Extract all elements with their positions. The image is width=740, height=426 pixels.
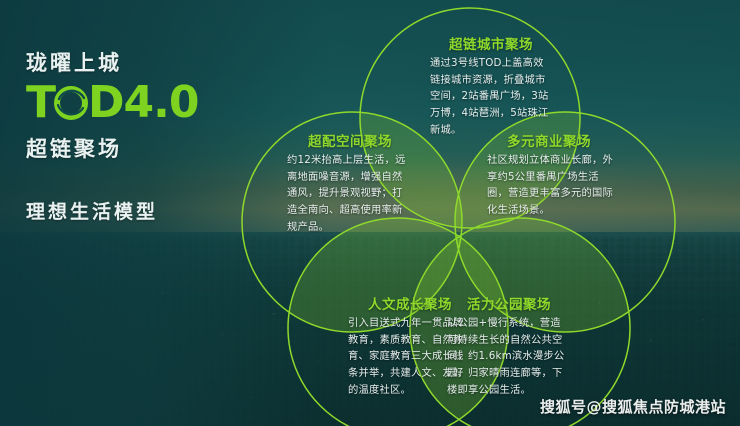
venn-body-right: 社区规划立体商业长廊，外享约5公里番禺广场生活圈，营造更丰富多元的国际化生活场景… [487,152,617,219]
venn-label-right: 多元商业聚场 [469,130,629,150]
venn-label-bottom-right: 活力公园聚场 [429,293,589,313]
venn-label-left: 超配空间聚场 [270,130,430,150]
venn-body-top: 通过3号线TOD上盖高效链接城市资源，折叠城市空间，2站番禺广场，3站万博，4站… [430,55,554,138]
venn-label-top: 超链城市聚场 [411,33,571,53]
watermark: 搜狐号@搜狐焦点防城港站 [540,396,726,417]
venn-diagram: 超链城市聚场 通过3号线TOD上盖高效链接城市资源，折叠城市空间，2站番禺广场，… [0,0,740,426]
poster-canvas: 珑曜上城 T D4.0 超链聚场 理想生活模型 [0,0,740,426]
venn-body-left: 约12米抬高上层生活，远离地面噪音源，增强自然通风，提升景观视野；打造全南向、超… [287,152,411,235]
venn-body-bottom-right: 以公园+慢行系统，营造可持续生长的自然公共空间，约1.6km滨水漫步公园、归家晴… [447,315,571,398]
